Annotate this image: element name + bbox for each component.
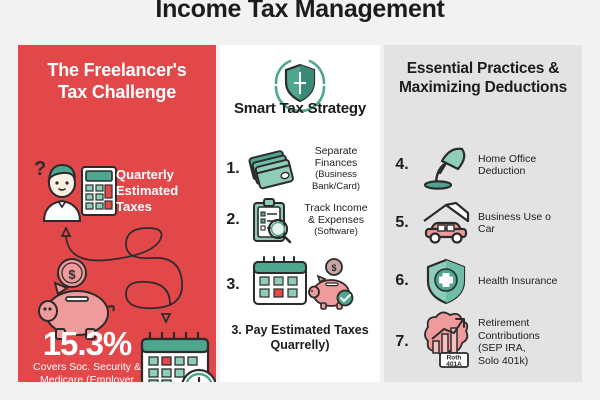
strategy-step-2: 2. Track Income & Expenses (Software): [220, 197, 380, 243]
challenge-heading-line2: Tax Challenge: [58, 82, 176, 102]
coin-dollar-icon: $: [58, 259, 86, 287]
strategy-footer-number: 3.: [231, 323, 241, 337]
practice-6-line1: Health Insurance: [478, 275, 557, 287]
coin-dollar-icon: $: [326, 259, 342, 275]
step-1-number: 1.: [220, 160, 246, 178]
practice-7-line3: (SEP IRA,: [478, 342, 526, 354]
step-2-title2: & Expenses: [308, 214, 364, 226]
practice-5-line2: Car: [478, 223, 495, 235]
roth-badge-line2: 401A: [446, 361, 462, 368]
strategy-step-3: 3. $: [220, 255, 380, 315]
step-2-title: Track Income: [304, 202, 367, 214]
svg-text:$: $: [68, 267, 76, 282]
practice-4-line1: Home Office: [478, 153, 536, 165]
strategy-step-1: 1. Separate Finances (Business Bank/Card…: [220, 145, 380, 193]
practice-7-label: Retirement Contributions (SEP IRA, Solo …: [472, 317, 582, 367]
step-3-number: 3.: [220, 276, 246, 294]
strategy-footer-line1: Pay Estimated Taxes: [245, 323, 368, 337]
practice-5-label: Business Use o Car: [472, 211, 582, 236]
calendar-piggy-icon: $: [246, 255, 356, 315]
practice-4-line2: Deduction: [478, 165, 525, 177]
clipboard-magnifier-icon: [246, 197, 294, 243]
health-shield-icon: [420, 257, 472, 305]
quarterly-label-line1: Quarterly: [116, 167, 174, 182]
quarterly-estimated-taxes-label: Quarterly Estimated Taxes: [116, 167, 212, 215]
step-2-number: 2.: [220, 211, 246, 229]
practice-7-line1: Retirement: [478, 317, 529, 329]
step-1-title: Separate Finances: [315, 145, 358, 169]
pct-caption-line1: Covers Soc. Security &: [33, 361, 141, 373]
step-1-text: Separate Finances (Business Bank/Card): [294, 145, 380, 193]
calendar-icon: [136, 329, 216, 382]
challenge-heading: The Freelancer's Tax Challenge: [28, 59, 206, 103]
practice-4-label: Home Office Deduction: [472, 153, 582, 178]
strategy-footer-caption: 3. Pay Estimated Taxes Quarrelly): [224, 323, 376, 353]
calculator-icon: [82, 167, 116, 215]
step-2-text: Track Income & Expenses (Software): [294, 202, 380, 238]
practice-7-line4: Solo 401k): [478, 355, 528, 367]
practice-5-line1: Business Use o: [478, 211, 551, 223]
svg-text:$: $: [331, 263, 336, 273]
practice-item-retirement: 7. Roth 401A Retirement Contributions (S…: [384, 313, 582, 371]
quarterly-label-line2: Estimated Taxes: [116, 183, 178, 214]
growth-chart-icon: Roth 401A: [420, 313, 472, 371]
freelancer-person-icon: ?: [22, 153, 122, 225]
step-2-subtitle: (Software): [294, 226, 378, 238]
practice-item-home-office: 4. Home Office Deduction: [384, 141, 582, 189]
practices-heading-line1: Essential Practices &: [407, 60, 560, 77]
panel-smart-tax-strategy: Smart Tax Strategy 1. Separate Finances …: [220, 45, 380, 382]
panel-freelancer-challenge: The Freelancer's Tax Challenge ?: [18, 45, 216, 382]
challenge-heading-line1: The Freelancer's: [47, 60, 186, 80]
practice-6-number: 6.: [384, 272, 420, 290]
practice-item-business-car: 5. Business Use o Car: [384, 199, 582, 247]
panel-essential-practices: Essential Practices & Maximizing Deducti…: [384, 45, 582, 382]
practice-item-health-insurance: 6. Health Insurance: [384, 257, 582, 305]
practice-7-line2: Contributions: [478, 330, 540, 342]
payroll-tax-percent: 15.3%: [26, 327, 148, 360]
practices-heading: Essential Practices & Maximizing Deducti…: [390, 59, 576, 97]
car-garage-icon: [420, 199, 472, 247]
strategy-heading: Smart Tax Strategy: [220, 100, 380, 117]
quarterly-estimated-taxes-block: ?: [18, 153, 216, 225]
page-title: Income Tax Management: [0, 0, 600, 24]
step-1-subtitle: (Business Bank/Card): [294, 169, 378, 193]
strategy-footer-line2: Quarrelly): [270, 338, 329, 352]
practice-6-label: Health Insurance: [472, 275, 582, 288]
practice-7-number: 7.: [384, 333, 420, 351]
desk-lamp-icon: [420, 141, 472, 189]
practice-4-number: 4.: [384, 156, 420, 174]
question-mark-icon: ?: [34, 158, 46, 180]
credit-cards-icon: [246, 146, 294, 192]
practice-5-number: 5.: [384, 214, 420, 232]
payroll-tax-caption: Covers Soc. Security & Medicare (Employe…: [22, 361, 152, 382]
practices-heading-line2: Maximizing Deductions: [399, 79, 567, 96]
pct-caption-line2: Medicare (Employer: [40, 374, 134, 383]
